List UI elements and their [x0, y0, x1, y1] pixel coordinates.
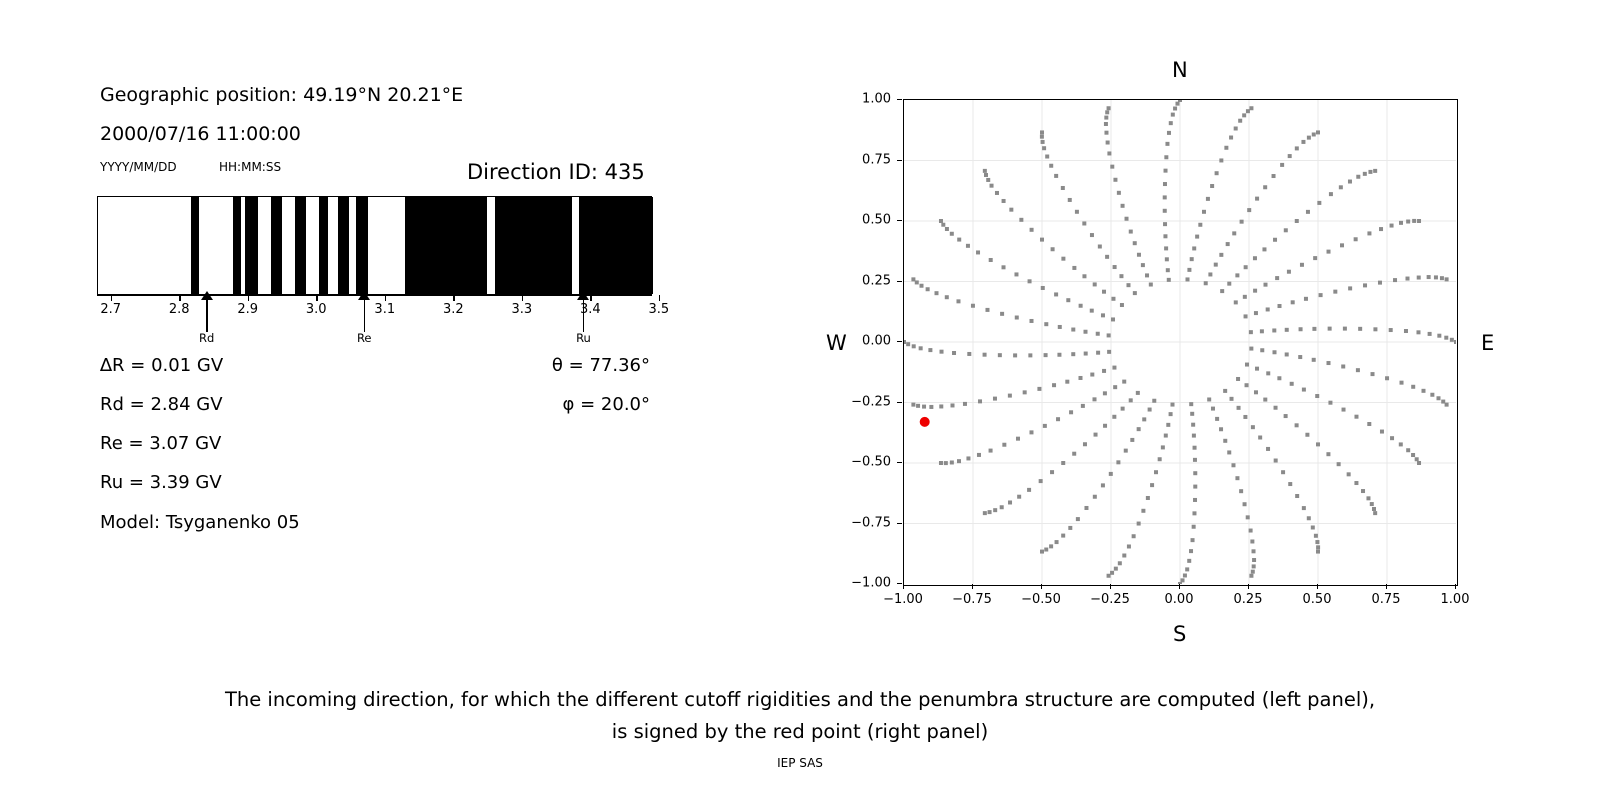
direction-point	[1385, 376, 1389, 380]
direction-point	[1342, 408, 1346, 412]
direction-point	[1103, 424, 1107, 428]
direction-point	[1094, 433, 1098, 437]
y-axis-tick	[897, 160, 902, 161]
direction-point	[1285, 352, 1289, 356]
direction-point	[1130, 438, 1134, 442]
direction-map-svg	[904, 100, 1456, 584]
direction-point	[1390, 436, 1394, 440]
direction-point	[1043, 424, 1047, 428]
direction-point	[1058, 325, 1062, 329]
direction-point	[989, 449, 993, 453]
direction-map-panel: N S W E −1.00−0.75−0.50−0.250.000.250.50…	[0, 0, 1600, 660]
direction-point	[1121, 204, 1125, 208]
direction-point	[1090, 233, 1094, 237]
caption-line-1: The incoming direction, for which the di…	[0, 684, 1600, 716]
direction-point	[977, 453, 981, 457]
direction-point	[1189, 402, 1193, 406]
direction-point	[1287, 270, 1291, 274]
direction-point	[1291, 300, 1295, 304]
direction-point	[1312, 358, 1316, 362]
direction-point	[1164, 434, 1168, 438]
direction-point	[1237, 406, 1241, 410]
direction-point	[1329, 192, 1333, 196]
direction-point	[1214, 263, 1218, 267]
direction-point	[1141, 263, 1145, 267]
direction-point	[1161, 445, 1165, 449]
direction-point	[1193, 471, 1197, 475]
direction-point	[1288, 482, 1292, 486]
direction-point	[1307, 136, 1311, 140]
direction-point	[1081, 404, 1085, 408]
y-axis-tick	[897, 583, 902, 584]
direction-point	[1137, 253, 1141, 257]
direction-point	[945, 227, 949, 231]
direction-point	[1193, 446, 1197, 450]
direction-point	[1260, 348, 1264, 352]
direction-point	[1266, 371, 1270, 375]
direction-point	[1163, 222, 1167, 226]
direction-point	[1181, 578, 1185, 582]
direction-point	[1436, 396, 1440, 400]
direction-point	[1326, 361, 1330, 365]
direction-point	[1315, 394, 1319, 398]
direction-point	[1028, 279, 1032, 283]
direction-point	[1316, 550, 1320, 554]
direction-point	[1285, 328, 1289, 332]
direction-point	[1040, 130, 1044, 134]
direction-point	[1040, 135, 1044, 139]
direction-point	[1111, 317, 1115, 321]
direction-point	[1284, 414, 1288, 418]
direction-point	[1223, 439, 1227, 443]
direction-point	[945, 295, 949, 299]
direction-point	[1049, 544, 1053, 548]
direction-point	[1044, 322, 1048, 326]
x-axis-tick-label: −0.50	[1021, 592, 1061, 607]
direction-point	[988, 510, 992, 514]
direction-point	[1051, 247, 1055, 251]
direction-point	[1281, 470, 1285, 474]
direction-point	[1145, 273, 1149, 277]
direction-point	[1014, 272, 1018, 276]
direction-point	[1316, 442, 1320, 446]
direction-point	[1107, 350, 1111, 354]
direction-point	[1305, 433, 1309, 437]
direction-point	[1254, 390, 1258, 394]
direction-point	[1065, 380, 1069, 384]
direction-point	[1249, 347, 1253, 351]
direction-point	[1163, 195, 1167, 199]
direction-point	[1280, 163, 1284, 167]
direction-point	[1370, 502, 1374, 506]
direction-point	[1249, 106, 1253, 110]
direction-point	[1246, 109, 1250, 113]
x-axis-tick	[1179, 584, 1180, 589]
direction-point	[1445, 403, 1449, 407]
direction-point	[1399, 442, 1403, 446]
direction-point	[1019, 218, 1023, 222]
direction-point	[1105, 255, 1109, 259]
direction-point	[1367, 422, 1371, 426]
direction-point	[989, 258, 993, 262]
direction-point	[1122, 553, 1126, 557]
direction-point	[1049, 164, 1053, 168]
direction-point	[1096, 351, 1100, 355]
direction-point	[1366, 496, 1370, 500]
direction-point	[1315, 540, 1319, 544]
direction-point	[1171, 113, 1175, 117]
direction-point	[922, 405, 926, 409]
direction-point	[1253, 289, 1257, 293]
direction-point	[1055, 540, 1059, 544]
direction-point	[1112, 415, 1116, 419]
direction-point	[926, 287, 930, 291]
direction-point	[1082, 274, 1086, 278]
direction-point	[1044, 548, 1048, 552]
direction-point	[1052, 383, 1056, 387]
direction-point	[1246, 515, 1250, 519]
direction-point	[1254, 311, 1258, 315]
direction-point	[1379, 227, 1383, 231]
direction-point	[1015, 316, 1019, 320]
direction-point	[1373, 511, 1377, 515]
compass-label-north: N	[1172, 58, 1188, 82]
direction-point	[1378, 281, 1382, 285]
direction-point	[1399, 221, 1403, 225]
x-axis-tick-label: 0.50	[1303, 592, 1332, 607]
direction-point	[1208, 272, 1212, 276]
direction-point	[1266, 447, 1270, 451]
direction-point	[919, 346, 923, 350]
direction-point	[1039, 479, 1043, 483]
direction-point	[1389, 328, 1393, 332]
x-axis-tick	[1386, 584, 1387, 589]
direction-point	[1061, 534, 1065, 538]
direction-point	[1316, 545, 1320, 549]
y-axis-tick-label: −0.25	[851, 394, 891, 409]
direction-point	[1215, 171, 1219, 175]
direction-point	[1141, 509, 1145, 513]
direction-point	[906, 342, 910, 346]
direction-point	[1263, 283, 1267, 287]
direction-point	[1230, 397, 1234, 401]
direction-point	[1102, 290, 1106, 294]
x-axis-tick	[1248, 584, 1249, 589]
direction-point	[1337, 462, 1341, 466]
direction-point	[1245, 383, 1249, 387]
direction-point	[1236, 377, 1240, 381]
direction-point	[1167, 131, 1171, 135]
direction-point	[1164, 246, 1168, 250]
direction-point	[912, 344, 916, 348]
direction-point	[1126, 283, 1130, 287]
direction-point	[1202, 210, 1206, 214]
direction-point	[1434, 275, 1438, 279]
direction-point	[1150, 483, 1154, 487]
direction-point	[1072, 452, 1076, 456]
direction-point	[939, 404, 943, 408]
direction-point	[916, 404, 920, 408]
direction-point	[1450, 338, 1454, 342]
direction-point	[1252, 564, 1256, 568]
direction-point	[1361, 489, 1365, 493]
direction-point	[1274, 459, 1278, 463]
y-axis-tick-label: −0.75	[851, 515, 891, 530]
direction-point	[1170, 403, 1174, 407]
direction-point	[1192, 511, 1196, 515]
direction-point	[1030, 228, 1034, 232]
direction-point	[1028, 353, 1032, 357]
y-axis-tick-label: −1.00	[851, 576, 891, 591]
direction-point	[1274, 406, 1278, 410]
direction-point	[1175, 102, 1179, 106]
direction-point	[1164, 169, 1168, 173]
direction-point	[1417, 461, 1421, 465]
direction-point	[1000, 312, 1004, 316]
direction-point	[1083, 442, 1087, 446]
direction-point	[1245, 363, 1249, 367]
x-axis-tick	[1317, 584, 1318, 589]
direction-point	[1235, 476, 1239, 480]
direction-point	[1302, 506, 1306, 510]
direction-point	[1204, 281, 1208, 285]
direction-point	[1300, 263, 1304, 267]
footer-credit: IEP SAS	[0, 756, 1600, 770]
direction-point	[1234, 300, 1238, 304]
direction-point	[1149, 283, 1153, 287]
direction-point	[941, 223, 945, 227]
direction-point	[1000, 505, 1004, 509]
direction-point	[1198, 223, 1202, 227]
direction-point	[1301, 140, 1305, 144]
direction-point	[1054, 292, 1058, 296]
direction-point	[1272, 174, 1276, 178]
direction-point	[1124, 449, 1128, 453]
direction-point	[1137, 522, 1141, 526]
direction-point	[1328, 401, 1332, 405]
direction-point	[1249, 574, 1253, 578]
direction-point	[1427, 275, 1431, 279]
direction-point	[1008, 394, 1012, 398]
y-axis-tick-label: −0.50	[851, 455, 891, 470]
direction-point	[1253, 256, 1257, 260]
direction-point	[1040, 550, 1044, 554]
direction-point	[1316, 130, 1320, 134]
direction-point	[1119, 274, 1123, 278]
direction-point	[952, 351, 956, 355]
direction-point	[1173, 107, 1177, 111]
direction-point	[1415, 457, 1419, 461]
direction-point	[985, 308, 989, 312]
direction-point	[1368, 170, 1372, 174]
direction-point	[1163, 234, 1167, 238]
direction-point	[1262, 247, 1266, 251]
direction-point	[1107, 333, 1111, 337]
direction-point	[1406, 277, 1410, 281]
direction-point	[1210, 184, 1214, 188]
direction-point	[1273, 238, 1277, 242]
direction-point	[976, 250, 980, 254]
direction-point	[1129, 398, 1133, 402]
direction-point	[1367, 231, 1371, 235]
direction-point	[939, 461, 943, 465]
direction-point	[956, 299, 960, 303]
direction-point	[1193, 485, 1197, 489]
direction-point	[1341, 364, 1345, 368]
direction-point	[1411, 453, 1415, 457]
direction-point	[1234, 127, 1238, 131]
direction-point	[1302, 388, 1306, 392]
direction-point	[1071, 328, 1075, 332]
direction-point	[1304, 297, 1308, 301]
direction-point	[1037, 387, 1041, 391]
x-axis-tick-label: −1.00	[883, 592, 923, 607]
direction-point	[1076, 517, 1080, 521]
direction-point	[1187, 559, 1191, 563]
direction-point	[1137, 427, 1141, 431]
direction-point	[1219, 158, 1223, 162]
direction-point	[1406, 220, 1410, 224]
direction-point	[1252, 558, 1256, 562]
direction-point	[1129, 230, 1133, 234]
x-axis-tick-label: −0.25	[1090, 592, 1130, 607]
direction-point	[1354, 415, 1358, 419]
direction-point	[1243, 502, 1247, 506]
direction-point	[1339, 185, 1343, 189]
direction-point	[1193, 498, 1197, 502]
direction-point	[1178, 100, 1182, 102]
direction-point	[983, 511, 987, 515]
direction-point	[1133, 291, 1137, 295]
direction-point	[1082, 221, 1086, 225]
direction-point	[1224, 146, 1228, 150]
direction-point	[1132, 534, 1136, 538]
direction-point	[990, 184, 994, 188]
compass-label-south: S	[1173, 622, 1186, 646]
direction-point	[993, 508, 997, 512]
direction-point	[1072, 266, 1076, 270]
direction-point	[1167, 278, 1171, 282]
y-axis-tick	[897, 462, 902, 463]
direction-point	[1358, 327, 1362, 331]
direction-point	[1251, 570, 1255, 574]
direction-point	[1373, 169, 1377, 173]
direction-point	[1295, 219, 1299, 223]
direction-point	[1169, 121, 1173, 125]
direction-point	[1260, 329, 1264, 333]
direction-point	[1186, 277, 1190, 281]
direction-point	[1185, 567, 1189, 571]
direction-point	[1107, 574, 1111, 578]
direction-point	[1190, 412, 1194, 416]
direction-point	[1220, 289, 1224, 293]
direction-point	[1314, 534, 1318, 538]
direction-point	[940, 350, 944, 354]
direction-point	[1226, 242, 1230, 246]
direction-point	[1105, 110, 1109, 114]
direction-point	[1227, 450, 1231, 454]
direction-point	[1066, 298, 1070, 302]
direction-point	[1231, 463, 1235, 467]
direction-point	[1299, 327, 1303, 331]
direction-point	[1166, 268, 1170, 272]
direction-point	[1319, 293, 1323, 297]
direction-point	[1306, 210, 1310, 214]
direction-point	[1163, 209, 1167, 213]
direction-point	[1430, 393, 1434, 397]
direction-point	[1400, 381, 1404, 385]
direction-point	[1102, 369, 1106, 373]
direction-point	[1146, 496, 1150, 500]
direction-point	[1195, 235, 1199, 239]
direction-point	[1084, 506, 1088, 510]
direction-point	[1023, 390, 1027, 394]
x-axis-tick-label: 0.00	[1165, 592, 1194, 607]
direction-map-plot-area	[903, 99, 1458, 586]
caption-line-2: is signed by the red point (right panel)	[0, 716, 1600, 748]
direction-point	[1098, 244, 1102, 248]
direction-point	[1347, 472, 1351, 476]
direction-point	[998, 353, 1002, 357]
direction-point	[1311, 525, 1315, 529]
x-axis-tick	[1041, 584, 1042, 589]
direction-point	[1317, 201, 1321, 205]
direction-point	[1041, 286, 1045, 290]
direction-point	[1249, 330, 1253, 334]
direction-point	[1437, 334, 1441, 338]
direction-point	[1440, 276, 1444, 280]
direction-point	[904, 340, 906, 344]
direction-point	[1313, 256, 1317, 260]
y-axis-tick-label: 1.00	[862, 92, 891, 107]
direction-point	[1071, 352, 1075, 356]
direction-point	[1189, 549, 1193, 553]
direction-point	[1219, 427, 1223, 431]
direction-point	[944, 461, 948, 465]
direction-point	[1107, 106, 1111, 110]
direction-point	[1239, 489, 1243, 493]
direction-point	[1404, 329, 1408, 333]
x-axis-tick-label: 0.75	[1372, 592, 1401, 607]
direction-point	[1190, 257, 1194, 261]
direction-point	[1428, 332, 1432, 336]
direction-point	[1393, 278, 1397, 282]
direction-point	[1079, 304, 1083, 308]
direction-point	[983, 169, 987, 173]
direction-point	[1288, 154, 1292, 158]
direction-point	[1278, 304, 1282, 308]
direction-point	[1445, 277, 1449, 281]
direction-point	[1412, 219, 1416, 223]
direction-point	[1084, 352, 1088, 356]
direction-point	[971, 304, 975, 308]
direction-point	[1118, 561, 1122, 565]
direction-point	[1223, 389, 1227, 393]
direction-point	[983, 353, 987, 357]
direction-point	[1371, 372, 1375, 376]
direction-point	[1104, 116, 1108, 120]
direction-point	[1207, 397, 1211, 401]
direction-point	[1263, 185, 1267, 189]
direction-point	[1252, 549, 1256, 553]
direction-point	[1136, 391, 1140, 395]
direction-point	[1380, 430, 1384, 434]
direction-point	[1068, 526, 1072, 530]
direction-point	[1152, 399, 1156, 403]
direction-point	[911, 403, 915, 407]
direction-point	[1093, 495, 1097, 499]
direction-point	[1277, 376, 1281, 380]
